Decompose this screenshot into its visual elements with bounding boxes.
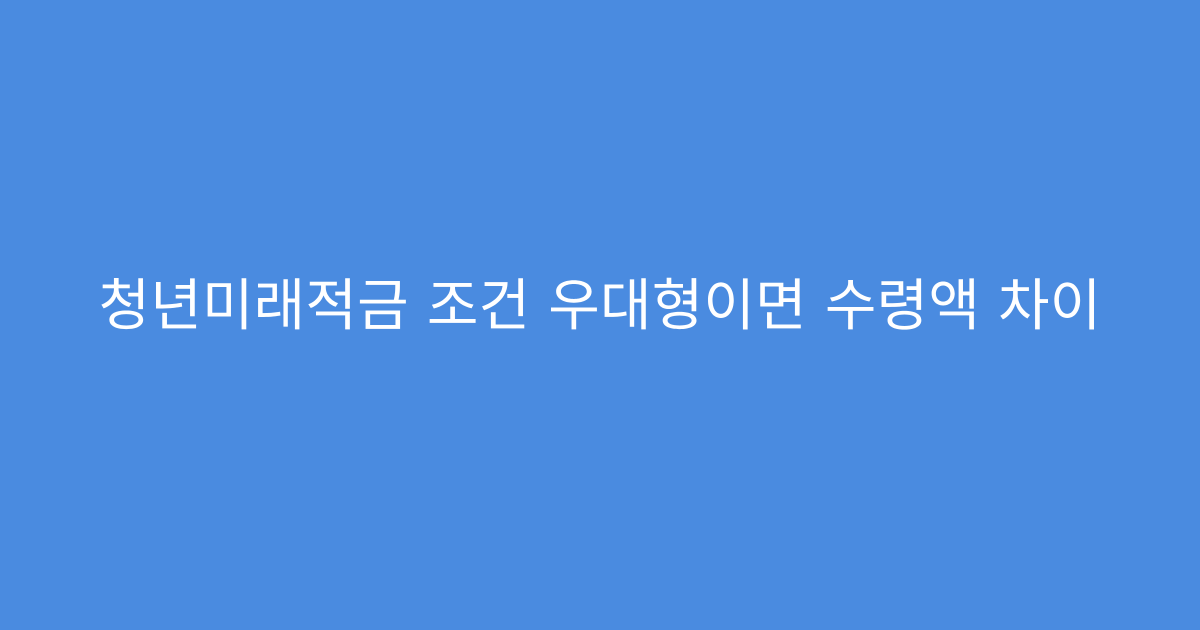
social-share-card: 청년미래적금 조건 우대형이면 수령액 차이 bbox=[0, 0, 1200, 630]
page-title: 청년미래적금 조건 우대형이면 수령액 차이 bbox=[99, 271, 1102, 343]
headline-container: 청년미래적금 조건 우대형이면 수령액 차이 bbox=[0, 271, 1200, 343]
